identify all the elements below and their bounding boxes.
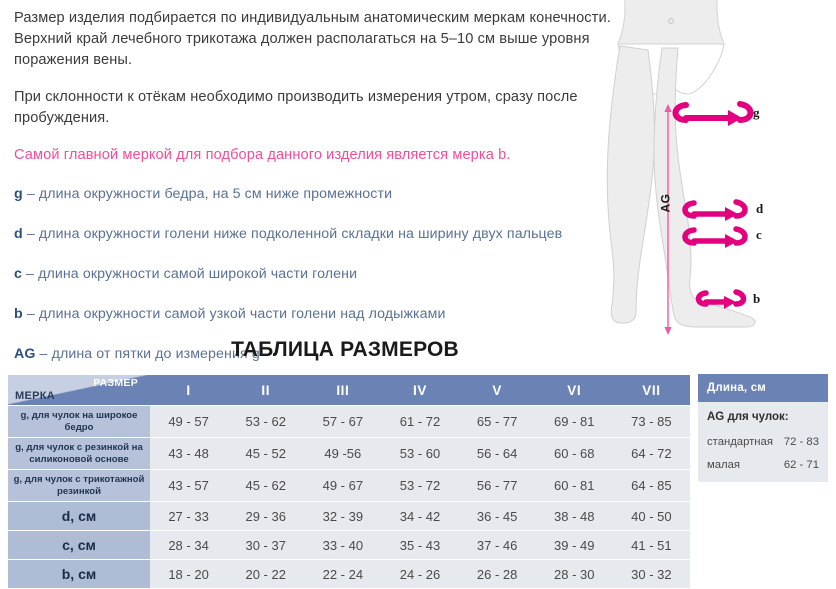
- definition-dash-g: –: [23, 186, 39, 202]
- definition-d: d – длина окружности голени ниже подколе…: [14, 224, 614, 244]
- anatomical-figure: g d c b AG: [600, 0, 836, 345]
- row-label: d, см: [8, 502, 150, 530]
- table-cell: 41 - 51: [613, 531, 690, 559]
- table-cell: 33 - 40: [304, 531, 381, 559]
- column-header-4: IV: [381, 375, 458, 405]
- length-panel-header: Длина, см: [698, 374, 828, 402]
- figure-label-g: g: [753, 105, 760, 121]
- intro-paragraph-2: При склонности к отёкам необходимо произ…: [14, 87, 614, 129]
- table-cell: 45 - 52: [227, 438, 304, 469]
- table-row: g, для чулок с резинкой на силиконовой о…: [8, 438, 690, 469]
- table-cell: 56 - 77: [459, 470, 536, 501]
- length-row-standard-name: стандартная: [707, 436, 773, 448]
- table-row: d, см 27 - 33 29 - 36 32 - 39 34 - 42 36…: [8, 502, 690, 530]
- length-panel: Длина, см AG для чулок: стандартная 72 -…: [698, 374, 828, 482]
- right-leg-shape: [654, 48, 755, 327]
- table-cell: 53 - 62: [227, 406, 304, 437]
- definition-g: g – длина окружности бедра, на 5 см ниже…: [14, 184, 614, 204]
- table-cell: 30 - 37: [227, 531, 304, 559]
- definition-key-c: c: [14, 266, 22, 282]
- table-cell: 27 - 33: [150, 502, 227, 530]
- corner-size-word: РАЗМЕР: [93, 377, 138, 389]
- row-label: g, для чулок с трикотажной резинкой: [8, 470, 150, 501]
- table-cell: 26 - 28: [459, 560, 536, 588]
- marker-d-arrowhead: [725, 207, 738, 221]
- table-cell: 28 - 30: [536, 560, 613, 588]
- definition-b: b – длина окружности самой узкой части г…: [14, 304, 614, 324]
- size-table-head: РАЗМЕР МЕРКА I II III IV V VI VII: [8, 375, 690, 405]
- table-cell: 49 - 57: [150, 406, 227, 437]
- figure-label-d: d: [756, 201, 763, 217]
- definition-key-b: b: [14, 306, 23, 322]
- definition-key-d: d: [14, 226, 23, 242]
- table-cell: 69 - 81: [536, 406, 613, 437]
- intro-text-column: Размер изделия подбирается по индивидуал…: [14, 8, 614, 384]
- table-cell: 64 - 72: [613, 438, 690, 469]
- table-cell: 37 - 46: [459, 531, 536, 559]
- table-cell: 30 - 32: [613, 560, 690, 588]
- length-row-small-name: малая: [707, 459, 740, 471]
- definition-dash-c: –: [22, 266, 38, 282]
- figure-label-ag: AG: [659, 194, 673, 213]
- definition-key-g: g: [14, 186, 23, 202]
- figure-label-c: c: [756, 227, 762, 243]
- table-cell: 24 - 26: [381, 560, 458, 588]
- length-row-standard: стандартная 72 - 83: [707, 436, 819, 448]
- definition-text-c: длина окружности самой широкой части гол…: [38, 266, 357, 282]
- table-cell: 65 - 77: [459, 406, 536, 437]
- corner-measure-word: МЕРКА: [15, 390, 55, 402]
- length-panel-subtitle: AG для чулок:: [707, 411, 819, 423]
- table-cell: 49 -56: [304, 438, 381, 469]
- table-cell: 38 - 48: [536, 502, 613, 530]
- legs-illustration: [600, 0, 836, 345]
- length-row-small: малая 62 - 71: [707, 459, 819, 471]
- table-row: g, для чулок на широкое бедро 49 - 57 53…: [8, 406, 690, 437]
- table-cell: 32 - 39: [304, 502, 381, 530]
- marker-b-arrowhead: [724, 296, 736, 309]
- table-cell: 45 - 62: [227, 470, 304, 501]
- table-cell: 29 - 36: [227, 502, 304, 530]
- table-row: b, см 18 - 20 20 - 22 22 - 24 24 - 26 26…: [8, 560, 690, 588]
- marker-c-arrowhead: [725, 234, 738, 248]
- table-cell: 22 - 24: [304, 560, 381, 588]
- table-cell: 60 - 81: [536, 470, 613, 501]
- table-corner-header: РАЗМЕР МЕРКА: [8, 375, 150, 405]
- column-header-6: VI: [536, 375, 613, 405]
- length-row-small-value: 62 - 71: [784, 459, 819, 471]
- table-cell: 40 - 50: [613, 502, 690, 530]
- definition-text-b: длина окружности самой узкой части голен…: [39, 306, 446, 322]
- column-header-7: VII: [613, 375, 690, 405]
- table-cell: 61 - 72: [381, 406, 458, 437]
- length-row-standard-value: 72 - 83: [784, 436, 819, 448]
- torso-shape: [618, 0, 724, 44]
- size-table-wrapper: РАЗМЕР МЕРКА I II III IV V VI VII g, для…: [8, 374, 690, 589]
- column-header-1: I: [150, 375, 227, 405]
- table-cell: 28 - 34: [150, 531, 227, 559]
- table-cell: 43 - 48: [150, 438, 227, 469]
- length-panel-body: AG для чулок: стандартная 72 - 83 малая …: [698, 402, 828, 482]
- table-cell: 73 - 85: [613, 406, 690, 437]
- definition-c: c – длина окружности самой широкой части…: [14, 264, 614, 284]
- table-cell: 49 - 67: [304, 470, 381, 501]
- table-cell: 43 - 57: [150, 470, 227, 501]
- table-title: ТАБЛИЦА РАЗМЕРОВ: [0, 338, 690, 362]
- table-row: c, см 28 - 34 30 - 37 33 - 40 35 - 43 37…: [8, 531, 690, 559]
- left-leg-shape: [607, 46, 654, 323]
- definition-text-d: длина окружности голени ниже подколенной…: [39, 226, 562, 242]
- row-label: b, см: [8, 560, 150, 588]
- size-table: РАЗМЕР МЕРКА I II III IV V VI VII g, для…: [8, 374, 690, 589]
- table-cell: 53 - 72: [381, 470, 458, 501]
- ag-arrow-down: [664, 327, 671, 335]
- table-cell: 35 - 43: [381, 531, 458, 559]
- table-row: g, для чулок с трикотажной резинкой 43 -…: [8, 470, 690, 501]
- intro-paragraph-1: Размер изделия подбирается по индивидуал…: [14, 8, 614, 71]
- column-header-5: V: [459, 375, 536, 405]
- marker-b: [699, 292, 744, 304]
- definition-dash-b: –: [23, 306, 39, 322]
- column-header-3: III: [304, 375, 381, 405]
- table-cell: 18 - 20: [150, 560, 227, 588]
- size-table-header-row: РАЗМЕР МЕРКА I II III IV V VI VII: [8, 375, 690, 405]
- definition-text-g: длина окружности бедра, на 5 см ниже про…: [39, 186, 392, 202]
- table-cell: 57 - 67: [304, 406, 381, 437]
- marker-g-arrowhead: [728, 110, 742, 126]
- table-cell: 60 - 68: [536, 438, 613, 469]
- figure-label-b: b: [753, 291, 760, 307]
- row-label: g, для чулок на широкое бедро: [8, 406, 150, 437]
- row-label: g, для чулок с резинкой на силиконовой о…: [8, 438, 150, 469]
- table-cell: 34 - 42: [381, 502, 458, 530]
- table-cell: 36 - 45: [459, 502, 536, 530]
- column-header-2: II: [227, 375, 304, 405]
- table-cell: 56 - 64: [459, 438, 536, 469]
- definition-dash-d: –: [23, 226, 39, 242]
- table-cell: 53 - 60: [381, 438, 458, 469]
- table-cell: 20 - 22: [227, 560, 304, 588]
- table-cell: 39 - 49: [536, 531, 613, 559]
- highlight-note: Самой главной меркой для подбора данного…: [14, 145, 614, 166]
- row-label: c, см: [8, 531, 150, 559]
- table-cell: 64 - 85: [613, 470, 690, 501]
- size-table-body: g, для чулок на широкое бедро 49 - 57 53…: [8, 406, 690, 588]
